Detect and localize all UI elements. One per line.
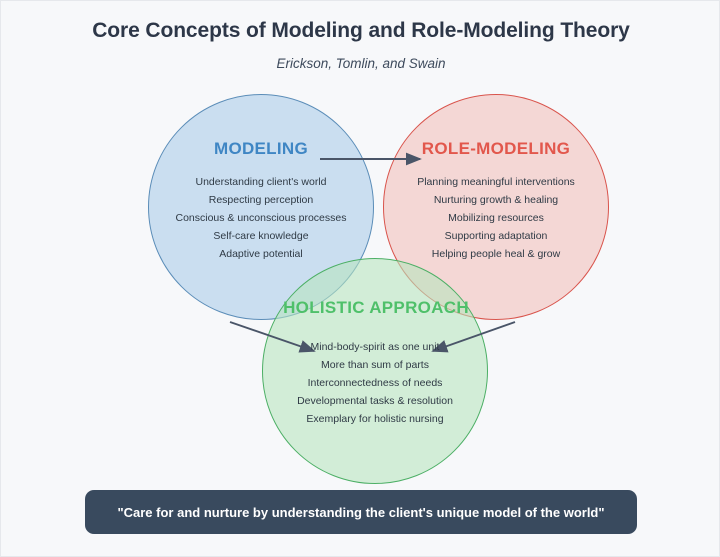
list-item: Developmental tasks & resolution bbox=[225, 392, 525, 410]
list-item: Interconnectedness of needs bbox=[225, 374, 525, 392]
list-item: Nurturing growth & healing bbox=[346, 191, 646, 209]
diagram-canvas: Core Concepts of Modeling and Role-Model… bbox=[0, 0, 720, 557]
list-item: Supporting adaptation bbox=[346, 227, 646, 245]
list-item: More than sum of parts bbox=[225, 356, 525, 374]
list-item: Mobilizing resources bbox=[346, 209, 646, 227]
venn-label-holistic: HOLISTIC APPROACH bbox=[226, 298, 526, 318]
list-item: Helping people heal & grow bbox=[346, 245, 646, 263]
venn-items-holistic: Mind-body-spirit as one unit More than s… bbox=[225, 338, 525, 428]
quote-banner: "Care for and nurture by understanding t… bbox=[85, 490, 637, 534]
list-item: Mind-body-spirit as one unit bbox=[225, 338, 525, 356]
list-item: Planning meaningful interventions bbox=[346, 173, 646, 191]
venn-items-role-modeling: Planning meaningful interventions Nurtur… bbox=[346, 173, 646, 263]
page-subtitle: Erickson, Tomlin, and Swain bbox=[1, 56, 720, 71]
list-item: Exemplary for holistic nursing bbox=[225, 410, 525, 428]
page-title: Core Concepts of Modeling and Role-Model… bbox=[1, 19, 720, 43]
quote-banner-text: "Care for and nurture by understanding t… bbox=[117, 505, 604, 520]
venn-label-role-modeling: ROLE-MODELING bbox=[346, 139, 646, 159]
